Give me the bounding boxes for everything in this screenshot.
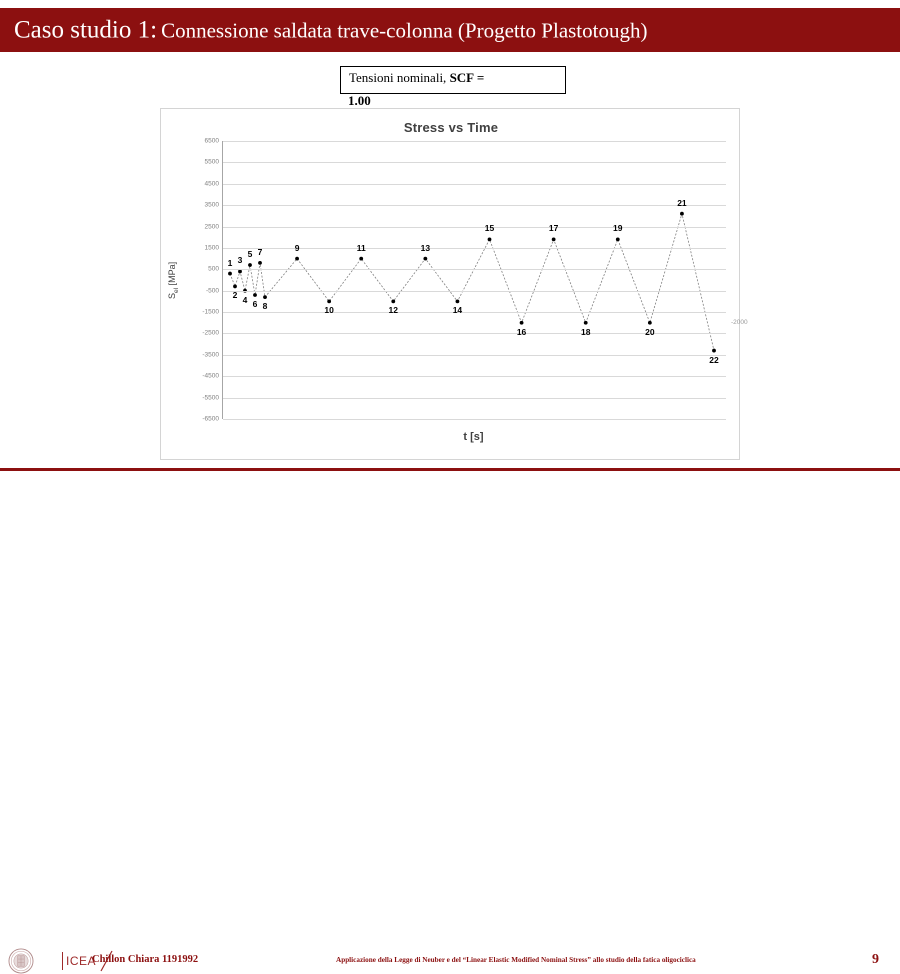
chart-gridline: [223, 419, 726, 420]
chart-data-label: 15: [485, 223, 494, 233]
chart-title: Stress vs Time: [161, 120, 741, 135]
chart-gridline: [223, 227, 726, 228]
chart-data-point: [359, 257, 363, 261]
chart-gridline: [223, 269, 726, 270]
chart-data-point: [552, 237, 556, 241]
chart-y-tick-label: 2500: [171, 223, 219, 230]
chart-data-label: 20: [645, 327, 654, 337]
chart-data-point: [233, 285, 237, 289]
chart-data-label: 21: [677, 198, 686, 208]
chart-data-point: [712, 349, 716, 353]
chart-data-label: 12: [389, 305, 398, 315]
slide-title-bar: Caso studio 1: Connessione saldata trave…: [0, 8, 900, 52]
chart-data-label: 14: [453, 305, 462, 315]
chart-gridline: [223, 162, 726, 163]
chart-y-tick-label: -4500: [171, 373, 219, 380]
chart-data-label: 7: [258, 247, 263, 257]
chart-data-label: 8: [263, 301, 268, 311]
callout-scf-value: 1.00: [348, 93, 371, 109]
chart-y-tick-label: -5500: [171, 394, 219, 401]
chart-data-label: 4: [243, 295, 248, 305]
chart-data-point: [680, 212, 684, 216]
chart-series-line: [223, 141, 726, 419]
chart-data-point: [327, 299, 331, 303]
footer: ICEA Chillon Chiara 1191992 Applicazione…: [0, 471, 900, 506]
chart-data-label: 5: [248, 249, 253, 259]
callout-text-plain: Tensioni nominali,: [349, 70, 450, 85]
chart-axis-note: -2000: [731, 319, 748, 326]
chart-y-tick-label: -6500: [171, 416, 219, 423]
chart-y-tick-label: -1500: [171, 309, 219, 316]
chart-data-label: 13: [421, 243, 430, 253]
slide-title-main: Caso studio 1:: [14, 17, 157, 44]
chart-gridline: [223, 141, 726, 142]
chart-data-point: [253, 293, 257, 297]
chart-gridline: [223, 205, 726, 206]
chart-y-tick-label: -2500: [171, 330, 219, 337]
chart-y-tick-labels: 650055004500350025001500500-500-1500-250…: [161, 141, 219, 419]
chart-data-point: [295, 257, 299, 261]
chart-y-tick-label: 6500: [171, 138, 219, 145]
footer-author: Chillon Chiara 1191992: [92, 954, 198, 965]
chart-data-label: 22: [709, 355, 718, 365]
chart-y-tick-label: -3500: [171, 351, 219, 358]
chart-data-point: [258, 261, 262, 265]
chart-data-point: [584, 321, 588, 325]
chart-data-label: 16: [517, 327, 526, 337]
chart-y-tick-label: 4500: [171, 180, 219, 187]
chart-y-tick-label: -500: [171, 287, 219, 294]
chart-y-tick-label: 500: [171, 266, 219, 273]
chart-data-point: [423, 257, 427, 261]
chart-data-label: 1: [228, 258, 233, 268]
chart-data-label: 3: [238, 255, 243, 265]
chart-y-tick-label: 1500: [171, 244, 219, 251]
chart-gridline: [223, 355, 726, 356]
chart-data-point: [248, 263, 252, 267]
chart-data-label: 18: [581, 327, 590, 337]
chart-data-point: [520, 321, 524, 325]
callout-textbox: Tensioni nominali, SCF =: [340, 66, 566, 94]
footer-subject: Applicazione della Legge di Neuber e del…: [336, 956, 696, 964]
chart-data-point: [456, 299, 460, 303]
callout-text-bold: SCF =: [450, 70, 485, 85]
chart-container: Stress vs Time Sel [MPa] 650055004500350…: [160, 108, 740, 460]
chart-gridline: [223, 312, 726, 313]
chart-data-label: 6: [253, 299, 258, 309]
chart-data-point: [228, 272, 232, 276]
chart-data-label: 9: [295, 243, 300, 253]
chart-data-point: [616, 237, 620, 241]
chart-data-point: [391, 299, 395, 303]
chart-data-label: 17: [549, 223, 558, 233]
chart-data-point: [488, 237, 492, 241]
chart-data-label: 19: [613, 223, 622, 233]
chart-y-tick-label: 5500: [171, 159, 219, 166]
chart-data-label: 11: [357, 243, 366, 253]
chart-gridline: [223, 184, 726, 185]
chart-gridline: [223, 376, 726, 377]
chart-data-label: 10: [324, 305, 333, 315]
chart-data-point: [263, 295, 267, 299]
chart-data-point: [648, 321, 652, 325]
chart-plot-area: 12345678910111213141516171819202122: [222, 141, 725, 419]
footer-page-number: 9: [872, 952, 879, 968]
chart-gridline: [223, 398, 726, 399]
slide-title: Caso studio 1: Connessione saldata trave…: [14, 18, 647, 43]
chart-x-axis-title: t [s]: [222, 431, 725, 443]
chart-data-label: 2: [233, 290, 238, 300]
chart-gridline: [223, 291, 726, 292]
university-seal-icon: [8, 948, 34, 974]
chart-y-tick-label: 3500: [171, 202, 219, 209]
slide-title-sub: Connessione saldata trave-colonna (Proge…: [161, 19, 647, 43]
